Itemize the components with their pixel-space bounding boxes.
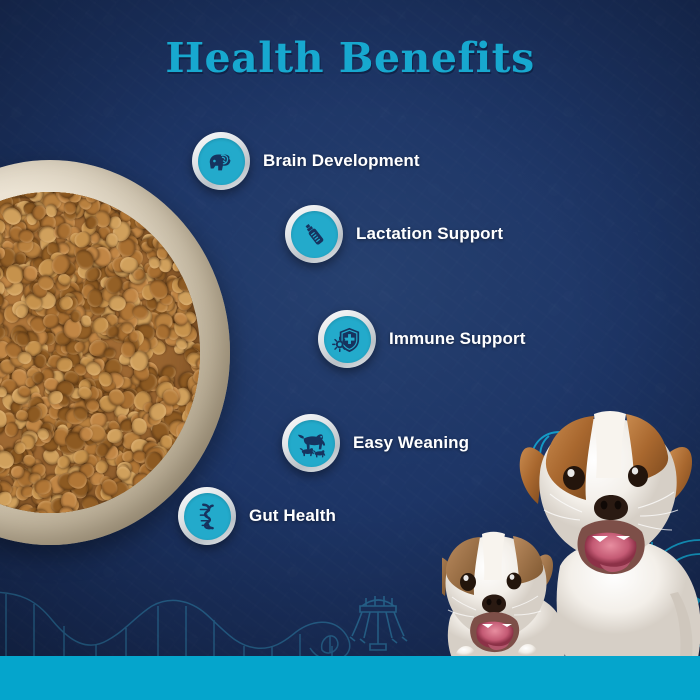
benefit-badge: [192, 132, 250, 190]
benefit-label: Brain Development: [263, 151, 420, 171]
benefit-label: Lactation Support: [356, 224, 503, 244]
benefit-badge: [318, 310, 376, 368]
dogs-photo: [442, 396, 700, 658]
benefit-badge: [282, 414, 340, 472]
intestine-icon: [184, 493, 231, 540]
dog-puppy: [442, 532, 566, 658]
page-title: Health Benefits: [0, 34, 700, 82]
benefit-label: Immune Support: [389, 329, 525, 349]
benefit-item-brain-development[interactable]: Brain Development: [192, 132, 420, 190]
benefit-label: Gut Health: [249, 506, 336, 526]
benefit-badge: [285, 205, 343, 263]
mother-dog-puppies-icon: [288, 420, 335, 467]
benefit-item-immune-support[interactable]: Immune Support: [318, 310, 525, 368]
dog-brain-icon: [198, 138, 245, 185]
benefit-item-lactation-support[interactable]: Lactation Support: [285, 205, 503, 263]
health-benefits-graphic: Health Benefits Brain Deve: [0, 0, 700, 700]
baby-bottle-icon: [291, 211, 338, 258]
shield-cross-virus-icon: [324, 316, 371, 363]
bottom-accent-bar: [0, 656, 700, 700]
benefit-badge: [178, 487, 236, 545]
benefit-item-gut-health[interactable]: Gut Health: [178, 487, 336, 545]
